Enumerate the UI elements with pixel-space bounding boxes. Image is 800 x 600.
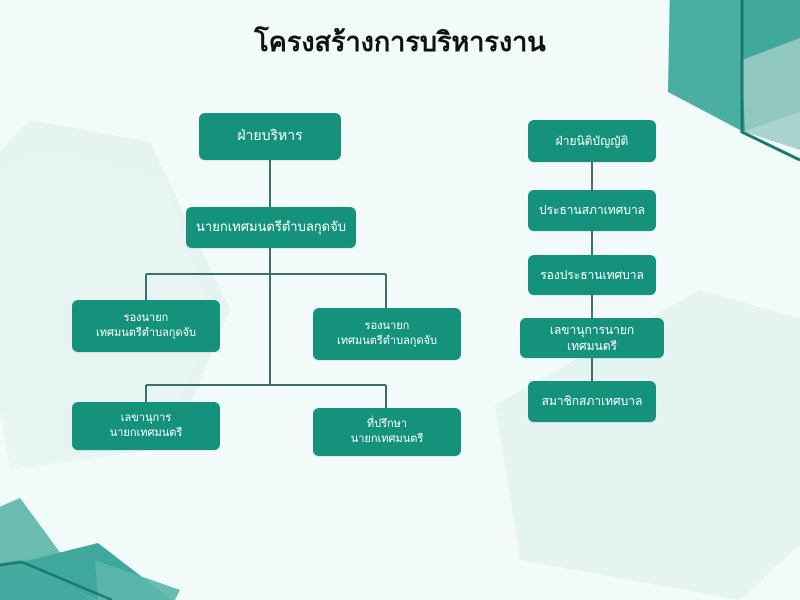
- node-legis-head[interactable]: ฝ่ายนิติบัญญัติ: [528, 120, 656, 162]
- node-mayor-secretary-legis[interactable]: เลขานุการนายกเทศมนตรี: [520, 318, 664, 358]
- node-mayor-advisor[interactable]: ที่ปรึกษา นายกเทศมนตรี: [313, 408, 461, 456]
- node-mayor-secretary-legis-label: เลขานุการนายกเทศมนตรี: [526, 322, 658, 354]
- node-exec-head[interactable]: ฝ่ายบริหาร: [199, 113, 341, 160]
- node-council-vice-president[interactable]: รองประธานเทศบาล: [528, 255, 656, 295]
- node-council-vice-president-label: รองประธานเทศบาล: [540, 267, 644, 283]
- node-deputy-mayor-left-label: รองนายก เทศมนตรีตำบลกุดจับ: [96, 311, 196, 341]
- node-mayor-advisor-label: ที่ปรึกษา นายกเทศมนตรี: [351, 417, 424, 447]
- page-title: โครงสร้างการบริหารงาน: [0, 26, 800, 60]
- node-mayor[interactable]: นายกเทศมนตรีตำบลกุดจับ: [186, 207, 356, 248]
- node-exec-head-label: ฝ่ายบริหาร: [237, 127, 302, 146]
- node-council-president[interactable]: ประธานสภาเทศบาล: [528, 190, 656, 231]
- node-council-members-label: สมาชิกสภาเทศบาล: [542, 393, 643, 409]
- node-mayor-secretary[interactable]: เลขานุการ นายกเทศมนตรี: [72, 402, 220, 450]
- org-chart: โครงสร้างการบริหารงาน ฝ่ายบริหาร นายกเทศ…: [0, 0, 800, 600]
- node-mayor-label: นายกเทศมนตรีตำบลกุดจับ: [196, 219, 346, 237]
- node-mayor-secretary-label: เลขานุการ นายกเทศมนตรี: [110, 411, 183, 441]
- node-deputy-mayor-right-label: รองนายก เทศมนตรีตำบลกุดจับ: [337, 319, 437, 349]
- node-legis-head-label: ฝ่ายนิติบัญญัติ: [556, 133, 629, 149]
- node-council-members[interactable]: สมาชิกสภาเทศบาล: [528, 381, 656, 422]
- node-deputy-mayor-left[interactable]: รองนายก เทศมนตรีตำบลกุดจับ: [72, 300, 220, 352]
- slide-canvas: โครงสร้างการบริหารงาน ฝ่ายบริหาร นายกเทศ…: [0, 0, 800, 600]
- node-deputy-mayor-right[interactable]: รองนายก เทศมนตรีตำบลกุดจับ: [313, 308, 461, 360]
- node-council-president-label: ประธานสภาเทศบาล: [539, 202, 645, 218]
